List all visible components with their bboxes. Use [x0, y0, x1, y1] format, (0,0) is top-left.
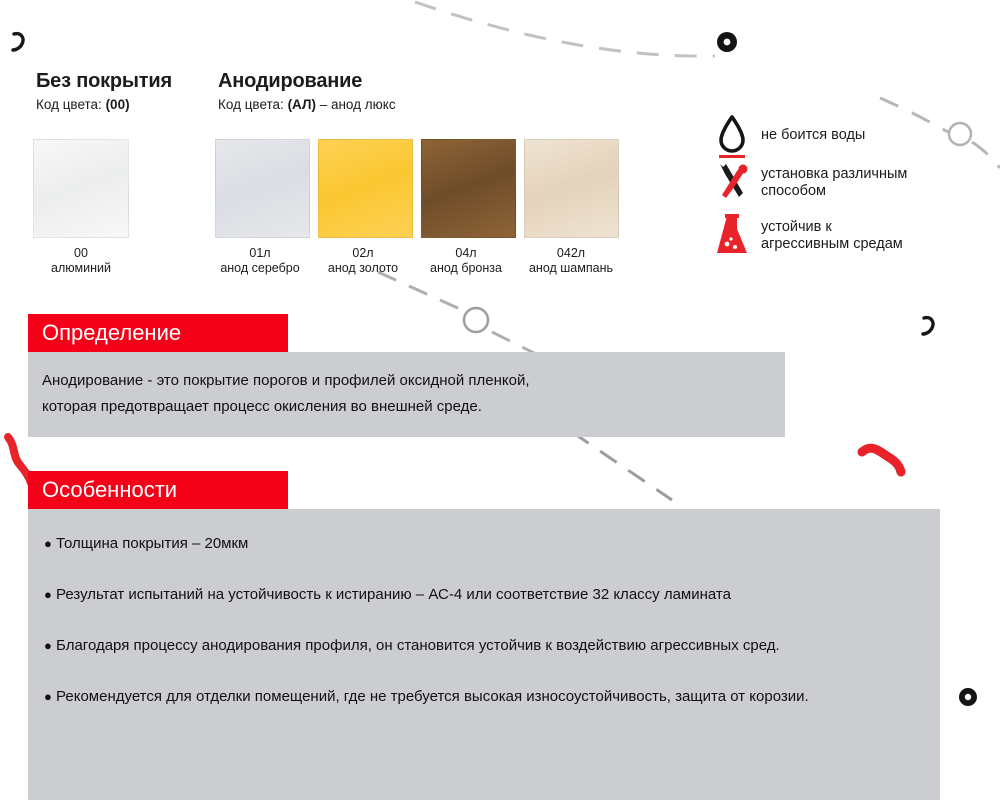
dashed-diagonal-mid-c — [572, 432, 672, 500]
bullet-dot-icon: ● — [44, 638, 52, 653]
swatch-code-042l: 042л — [516, 246, 626, 261]
swatch-042l[interactable] — [524, 139, 619, 238]
water-drop-icon — [713, 112, 751, 158]
section-tab-definition: Определение — [28, 314, 288, 352]
features-bullet-list: ● Толщина покрытия – 20мкм ● Результат и… — [28, 509, 940, 709]
swatch-caption-042l: 042л анод шампань — [516, 246, 626, 276]
swatch-00[interactable] — [33, 139, 129, 238]
swatch-code-04l: 04л — [411, 246, 521, 261]
section-tab-definition-label: Определение — [42, 320, 181, 346]
infographic-page: Без покрытия Код цвета: (00) Анодировани… — [0, 0, 1000, 800]
list-item: ● Рекомендуется для отделки помещений, г… — [44, 684, 914, 709]
list-item: ● Толщина покрытия – 20мкм — [44, 531, 914, 556]
decor-squiggle-right — [862, 448, 901, 472]
swatch-caption-02l: 02л анод золото — [308, 246, 418, 276]
swatch-name-00: алюминий — [26, 261, 136, 276]
swatch-01l[interactable] — [215, 139, 310, 238]
swatch-name-042l: анод шампань — [516, 261, 626, 276]
list-item: ● Результат испытаний на устойчивость к … — [44, 582, 914, 607]
feature-bullet-1: Результат испытаний на устойчивость к ис… — [56, 586, 731, 603]
definition-paragraph: Анодирование - это покрытие порогов и пр… — [28, 352, 785, 420]
decor-dot-bottom-right-hole — [965, 694, 971, 700]
feature-row-water: не боится воды — [713, 112, 865, 158]
column-code-anodized: Код цвета: (АЛ) – анод люкс — [218, 97, 396, 112]
decor-hook-right — [923, 318, 933, 334]
swatch-02l[interactable] — [318, 139, 413, 238]
swatch-code-00: 00 — [26, 246, 136, 261]
column-title-anodized: Анодирование — [218, 70, 362, 93]
swatch-caption-00: 00 алюминий — [26, 246, 136, 276]
column-code-anodized-value: (АЛ) — [288, 97, 316, 112]
feature-bullet-0: Толщина покрытия – 20мкм — [56, 535, 248, 552]
list-item: ● Благодаря процессу анодирования профил… — [44, 633, 914, 658]
swatch-04l[interactable] — [421, 139, 516, 238]
bullet-dot-icon: ● — [44, 536, 52, 551]
swatch-caption-04l: 04л анод бронза — [411, 246, 521, 276]
column-title-uncoated: Без покрытия — [36, 70, 172, 93]
swatch-code-01l: 01л — [205, 246, 315, 261]
feature-row-installation: установка различным способом — [713, 160, 907, 206]
section-panel-definition: Анодирование - это покрытие порогов и пр… — [28, 352, 785, 437]
swatch-name-01l: анод серебро — [205, 261, 315, 276]
decor-dot-bottom-right — [959, 688, 977, 706]
section-tab-features: Особенности — [28, 471, 288, 509]
flask-icon — [713, 213, 751, 259]
swatch-caption-01l: 01л анод серебро — [205, 246, 315, 276]
section-panel-features: ● Толщина покрытия – 20мкм ● Результат и… — [28, 509, 940, 800]
feature-row-chemical: устойчив к агрессивным средам — [713, 213, 903, 259]
swatch-code-02l: 02л — [308, 246, 418, 261]
column-code-anodized-suffix: – анод люкс — [316, 97, 396, 112]
column-code-uncoated-value: (00) — [106, 97, 130, 112]
feature-label-chemical: устойчив к агрессивным средам — [761, 219, 903, 253]
swatch-name-04l: анод бронза — [411, 261, 521, 276]
decor-ring-mid — [464, 308, 488, 332]
column-code-uncoated: Код цвета: (00) — [36, 97, 130, 112]
wrench-screwdriver-icon — [713, 160, 751, 206]
feature-label-water: не боится воды — [761, 127, 865, 144]
feature-label-installation: установка различным способом — [761, 166, 907, 200]
section-tab-features-label: Особенности — [42, 477, 177, 503]
feature-bullet-2: Благодаря процессу анодирования профиля,… — [56, 637, 780, 654]
bullet-dot-icon: ● — [44, 689, 52, 704]
column-code-anodized-prefix: Код цвета: — [218, 97, 288, 112]
feature-bullet-3: Рекомендуется для отделки помещений, где… — [56, 688, 809, 705]
swatch-name-02l: анод золото — [308, 261, 418, 276]
column-code-uncoated-prefix: Код цвета: — [36, 97, 106, 112]
bullet-dot-icon: ● — [44, 587, 52, 602]
